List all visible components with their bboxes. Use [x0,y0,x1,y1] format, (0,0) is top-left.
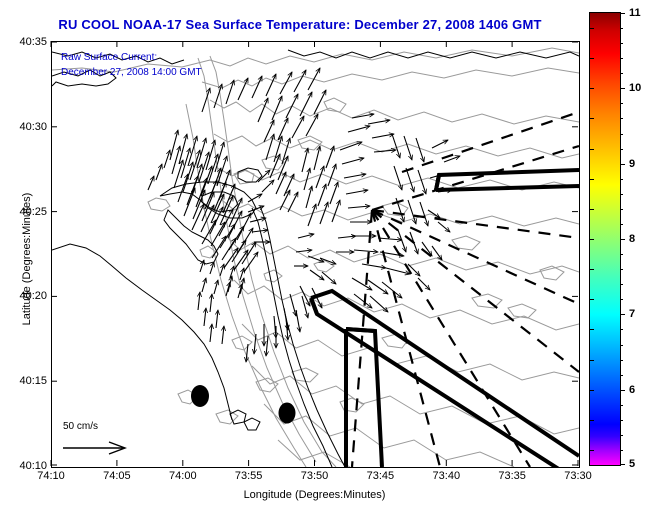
scale-bar-arrow-icon [61,441,133,455]
figure-title: RU COOL NOAA-17 Sea Surface Temperature:… [0,17,600,32]
xtick-2: 74:00 [169,470,197,482]
colorbar-label-11: 11 [629,7,641,19]
scale-bar-label: 50 cm/s [63,421,98,432]
colorbar-minor-tick [620,269,623,270]
colorbar-minor-tick [620,209,623,210]
colorbar-tick-9 [620,164,625,165]
colorbar-left-tick [590,450,594,451]
shipping-lanes [311,170,579,467]
colorbar-left-tick [590,239,594,240]
colorbar-tick-5 [620,464,625,465]
colorbar-left-tick [590,390,594,391]
colorbar-minor-tick [620,43,623,44]
colorbar-left-tick [590,209,594,210]
colorbar-label-9: 9 [629,158,635,170]
xtick-8: 73:30 [564,470,592,482]
colorbar-left-tick [590,420,594,421]
colorbar-minor-tick [620,194,623,195]
colorbar-tick-11 [620,13,625,14]
xtick-4: 73:50 [301,470,329,482]
map-plot-area[interactable]: Raw Surface Current: December 27, 2008 1… [51,41,580,468]
colorbar-minor-tick [620,450,623,451]
colorbar-left-tick [590,269,594,270]
colorbar-tick-8 [620,239,625,240]
colorbar-left-tick [590,360,594,361]
colorbar-left-tick [590,58,594,59]
y-axis-label: Latitude (Degrees:Minutes) [21,179,33,339]
colorbar-minor-tick [620,254,623,255]
colorbar-tick-7 [620,314,625,315]
colorbar-label-5: 5 [629,458,635,470]
ytick-1: 40:30 [9,121,47,133]
colorbar-minor-tick [620,284,623,285]
colorbar-minor-tick [620,134,623,135]
xtick-7: 73:35 [498,470,526,482]
colorbar-label-6: 6 [629,384,635,396]
colorbar-minor-tick [620,375,623,376]
colorbar-left-tick [590,28,594,29]
xtick-3: 73:55 [235,470,263,482]
station-markers [191,385,296,424]
colorbar-minor-tick [620,345,623,346]
colorbar-minor-tick [620,224,623,225]
station-dot-2 [279,403,296,424]
traffic-separation-rays [352,112,579,467]
station-dot-1 [191,385,209,407]
colorbar-minor-tick [620,360,623,361]
xtick-6: 73:40 [433,470,461,482]
xtick-1: 74:05 [103,470,131,482]
colorbar-label-7: 7 [629,308,635,320]
colorbar-left-tick [590,118,594,119]
colorbar-minor-tick [620,118,623,119]
colorbar-label-10: 10 [629,82,641,94]
ytick-0: 40:35 [9,36,47,48]
colorbar-minor-tick [620,299,623,300]
xtick-5: 73:45 [367,470,395,482]
scale-bar-legend: 50 cm/s [59,421,143,459]
ytick-4: 40:15 [9,375,47,387]
colorbar-tick-6 [620,390,625,391]
colorbar-left-tick [590,329,594,330]
colorbar-left-tick [590,88,594,89]
ytick-5: 40:10 [9,460,47,472]
colorbar-minor-tick [620,103,623,104]
colorbar-minor-tick [620,73,623,74]
colorbar-tick-10 [620,88,625,89]
colorbar-label-8: 8 [629,233,635,245]
x-axis-label: Longitude (Degrees:Minutes) [51,489,578,501]
colorbar-minor-tick [620,405,623,406]
colorbar[interactable]: 11 10 9 8 7 6 5 [589,12,621,466]
colorbar-minor-tick [620,329,623,330]
colorbar-left-tick [590,149,594,150]
map-canvas [52,42,579,467]
colorbar-minor-tick [620,179,623,180]
colorbar-left-tick [590,299,594,300]
colorbar-minor-tick [620,420,623,421]
colorbar-minor-tick [620,28,623,29]
sst-figure: RU COOL NOAA-17 Sea Surface Temperature:… [0,0,651,519]
colorbar-minor-tick [620,58,623,59]
colorbar-minor-tick [620,435,623,436]
colorbar-minor-tick [620,149,623,150]
colorbar-left-tick [590,179,594,180]
